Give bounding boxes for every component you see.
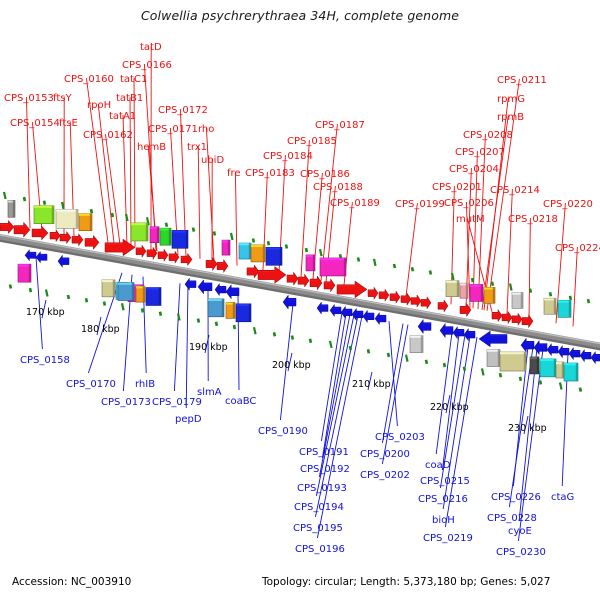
reverse-gene-label[interactable]: CPS_0158 [20, 356, 70, 366]
reverse-gene-arrow[interactable] [558, 346, 569, 358]
reverse-feature-box[interactable] [208, 299, 224, 317]
forward-gene-label[interactable]: tatC1 [120, 75, 147, 85]
forward-gene-label[interactable]: trx1 [187, 143, 207, 153]
reverse-leader-line [389, 321, 397, 426]
reverse-gene-label[interactable]: CPS_0193 [297, 484, 347, 494]
forward-gene-arrow[interactable] [206, 258, 217, 271]
forward-gene-label[interactable]: CPS_0186 [300, 170, 350, 180]
forward-gene-arrow[interactable] [50, 230, 60, 242]
genome-scale-tick [274, 332, 275, 336]
genome-scale-tick [472, 278, 473, 282]
forward-gene-label[interactable]: rpmG [497, 95, 525, 105]
forward-gene-label[interactable]: tatD [140, 43, 162, 53]
genome-scale-tick [86, 298, 87, 302]
genome-scale-tick [142, 308, 143, 312]
genome-scale-tick [358, 257, 359, 261]
forward-gene-arrow[interactable] [0, 221, 14, 234]
forward-leader-line [507, 189, 512, 314]
forward-feature-box-top [172, 230, 188, 232]
forward-feature-box-side [228, 240, 230, 255]
reverse-gene-arrow[interactable] [215, 284, 226, 296]
reverse-gene-arrow[interactable] [591, 352, 600, 364]
reverse-gene-arrow[interactable] [330, 304, 341, 316]
forward-feature-box-side [13, 200, 15, 217]
reverse-gene-label[interactable]: CPS_0191 [299, 448, 349, 458]
forward-feature-box[interactable] [56, 209, 78, 228]
forward-gene-arrow[interactable] [492, 310, 502, 322]
genome-scale-tick [62, 202, 64, 210]
genome-scale-tick [253, 238, 254, 242]
reverse-feature-box-side [29, 264, 31, 282]
forward-feature-box-top [34, 206, 54, 208]
forward-gene-label[interactable]: CPS_0201 [432, 183, 482, 193]
genome-scale-tick [482, 368, 484, 375]
forward-gene-arrow[interactable] [390, 291, 400, 303]
genome-scale-tick [4, 192, 6, 199]
forward-feature-box-side [521, 292, 523, 308]
genome-scale-tick [44, 201, 45, 205]
forward-feature-box-side [280, 247, 282, 265]
reverse-gene-arrow[interactable] [317, 302, 328, 314]
axis-tick-label[interactable]: 180 kbp [81, 325, 120, 335]
genome-scale-tick [122, 303, 124, 310]
genome-scale-tick [374, 259, 376, 266]
genome-scale-tick [292, 336, 293, 340]
forward-gene-label[interactable]: CPS_0214 [490, 186, 540, 196]
reverse-gene-label[interactable]: CPS_0170 [66, 380, 116, 390]
genome-scale-tick [430, 271, 431, 275]
genome-scale-tick [214, 231, 215, 235]
reverse-feature-box-top [500, 352, 526, 354]
reverse-feature-box[interactable] [146, 287, 161, 305]
forward-feature-box-side [554, 298, 556, 314]
reverse-feature-box-side [537, 357, 539, 374]
reverse-feature-box-side [498, 350, 500, 367]
forward-gene-label[interactable]: CPS_0154 [10, 119, 60, 129]
forward-gene-label[interactable]: CPS_0183 [245, 169, 295, 179]
reverse-gene-label[interactable]: CPS_0200 [360, 450, 410, 460]
reverse-gene-arrow[interactable] [36, 252, 47, 263]
forward-gene-label[interactable]: CPS_0199 [395, 200, 445, 210]
forward-gene-arrow[interactable] [298, 274, 309, 287]
genome-scale-tick [254, 327, 256, 334]
reverse-gene-label[interactable]: pepD [175, 415, 202, 425]
genome-scale-tick [588, 299, 589, 303]
reverse-feature-box-side [233, 302, 235, 318]
axis-tick-label[interactable]: 220 kbp [430, 403, 469, 413]
forward-leader-line [235, 172, 237, 266]
reverse-leader-line [186, 285, 188, 408]
forward-leader-line [573, 247, 577, 326]
axis-tick-label[interactable]: 210 kbp [352, 380, 391, 390]
forward-gene-label[interactable]: ubiD [201, 156, 224, 166]
reverse-gene-label[interactable]: slmA [197, 388, 222, 398]
forward-feature-box-side [249, 243, 251, 259]
reverse-feature-box[interactable] [118, 283, 134, 301]
genome-scale-tick [46, 290, 48, 297]
reverse-gene-arrow[interactable] [547, 344, 558, 356]
genome-scale-tick [394, 264, 395, 268]
forward-gene-label[interactable]: CPS_0207 [455, 148, 505, 158]
genome-scale-tick [580, 388, 581, 392]
reverse-feature-box-top [540, 359, 556, 361]
forward-gene-arrow[interactable] [85, 235, 99, 249]
footer-divider [0, 565, 600, 566]
reverse-gene-arrow[interactable] [58, 255, 69, 267]
forward-gene-label[interactable]: CPS_0208 [463, 131, 513, 141]
reverse-gene-label[interactable]: CPS_0194 [294, 503, 344, 513]
forward-gene-arrow[interactable] [32, 226, 48, 240]
genome-scale-tick [330, 341, 332, 348]
reverse-gene-arrow[interactable] [226, 285, 239, 299]
reverse-gene-arrow[interactable] [418, 320, 431, 334]
genome-summary-text: Topology: circular; Length: 5,373,180 bp… [262, 576, 550, 588]
forward-feature-box-side [344, 258, 346, 276]
forward-gene-label[interactable]: tatB1 [116, 94, 143, 104]
reverse-gene-label[interactable]: CPS_0226 [491, 493, 541, 503]
forward-feature-box[interactable] [131, 223, 148, 241]
forward-gene-arrow[interactable] [379, 289, 389, 301]
reverse-gene-arrow[interactable] [375, 313, 386, 325]
status-bar: Accession: NC_003910 Topology: circular;… [0, 570, 600, 600]
reverse-gene-label[interactable]: cyoE [508, 527, 532, 537]
forward-feature-box[interactable] [320, 258, 346, 276]
reverse-gene-arrow[interactable] [479, 331, 507, 347]
reverse-leader-line [436, 333, 452, 455]
forward-gene-arrow[interactable] [136, 245, 146, 257]
forward-gene-label[interactable]: CPS_0224 [555, 244, 600, 254]
reverse-feature-box-side [421, 336, 423, 353]
reverse-feature-box-side [113, 280, 115, 297]
reverse-feature-box[interactable] [540, 359, 556, 377]
forward-leader-line [98, 104, 114, 243]
reverse-gene-arrow[interactable] [363, 310, 374, 322]
forward-feature-box-side [569, 300, 571, 317]
forward-gene-arrow[interactable] [421, 297, 431, 309]
reverse-gene-label[interactable]: CPS_0179 [152, 398, 202, 408]
forward-feature-box-top [320, 258, 346, 260]
genome-scale-tick [510, 283, 512, 290]
forward-feature-box-side [186, 230, 188, 248]
forward-gene-label[interactable]: rho [198, 125, 214, 135]
forward-leader-line [529, 218, 530, 318]
reverse-feature-box[interactable] [500, 352, 526, 371]
forward-gene-label[interactable]: CPS_0166 [122, 61, 172, 71]
reverse-feature-box-side [249, 304, 251, 322]
forward-leader-line [206, 128, 214, 261]
forward-feature-box-side [76, 209, 78, 228]
forward-gene-label[interactable]: rpmB [497, 113, 524, 123]
genome-scale-tick [10, 285, 11, 289]
forward-feature-box-side [493, 287, 495, 303]
forward-gene-label[interactable]: CPS_0184 [263, 152, 313, 162]
reverse-gene-label[interactable]: bioH [432, 516, 455, 526]
forward-gene-label[interactable]: CPS_0153 [4, 94, 54, 104]
forward-gene-label[interactable]: rpoH [87, 101, 111, 111]
reverse-feature-box-side [554, 359, 556, 377]
forward-gene-label[interactable]: CPS_0187 [315, 121, 365, 131]
genome-scale-tick [340, 254, 341, 258]
reverse-gene-arrow[interactable] [534, 341, 547, 355]
forward-feature-box-top [266, 247, 282, 249]
reverse-gene-label[interactable]: CPS_0230 [496, 548, 546, 558]
genome-scale-tick [91, 209, 92, 213]
forward-feature-box-side [52, 206, 54, 224]
reverse-leader-line [36, 257, 42, 349]
axis-tick-label[interactable]: 190 kbp [189, 343, 228, 353]
forward-gene-label[interactable]: ftsE [59, 119, 78, 129]
reverse-feature-box-side [222, 299, 224, 317]
reverse-gene-label[interactable]: CPS_0203 [375, 433, 425, 443]
reverse-gene-label[interactable]: CPS_0173 [101, 398, 151, 408]
forward-feature-box-side [263, 245, 265, 262]
forward-gene-arrow[interactable] [438, 300, 448, 312]
genome-scale-tick [350, 346, 351, 350]
reverse-gene-arrow[interactable] [185, 278, 196, 290]
reverse-feature-box-top [208, 299, 224, 301]
forward-leader-line [198, 146, 200, 259]
forward-gene-arrow[interactable] [287, 272, 298, 285]
forward-gene-label[interactable]: fre [227, 169, 241, 179]
genome-scale-tick [320, 249, 322, 256]
genome-scale-tick [520, 377, 521, 381]
reverse-gene-label[interactable]: CPS_0216 [418, 495, 468, 505]
forward-feature-box-side [146, 223, 148, 241]
genome-scale-tick [112, 213, 113, 217]
reverse-feature-box-side [159, 287, 161, 305]
forward-feature-box-side [90, 214, 92, 231]
reverse-gene-arrow[interactable] [580, 350, 591, 362]
genome-scale-tick [368, 349, 369, 353]
axis-tick-label[interactable]: 200 kbp [272, 361, 311, 371]
genome-scale-tick [550, 292, 551, 296]
reverse-gene-arrow[interactable] [341, 306, 352, 318]
forward-gene-arrow[interactable] [247, 265, 259, 278]
forward-gene-label[interactable]: CPS_0160 [64, 75, 114, 85]
axis-tick-label[interactable]: 170 kbp [26, 308, 65, 318]
forward-gene-label[interactable]: CPS_0188 [313, 183, 363, 193]
forward-gene-label[interactable]: CPS_0220 [543, 200, 593, 210]
reverse-leader-line [322, 313, 346, 458]
genome-scale-tick [30, 288, 31, 292]
forward-gene-arrow[interactable] [368, 287, 378, 299]
reverse-feature-box-side [143, 286, 145, 302]
reverse-feature-box-side [524, 352, 526, 371]
forward-feature-box-side [313, 255, 315, 271]
forward-gene-label[interactable]: ftsY [53, 94, 72, 104]
reverse-feature-box-side [132, 283, 134, 301]
forward-feature-box-top [131, 223, 148, 225]
genome-scale-tick [68, 295, 69, 299]
genome-scale-tick [500, 373, 501, 377]
genome-scale-tick [160, 312, 161, 316]
reverse-gene-label[interactable]: coaD [425, 461, 450, 471]
axis-tick-label[interactable]: 230 kbp [508, 424, 547, 434]
genome-scale-tick [193, 228, 194, 232]
genome-scale-tick [24, 197, 25, 201]
reverse-gene-arrow[interactable] [283, 295, 296, 309]
forward-gene-arrow[interactable] [512, 313, 522, 325]
reverse-gene-label[interactable]: coaBC [225, 397, 256, 407]
genome-scale-tick [216, 322, 217, 326]
forward-gene-label[interactable]: CPS_0185 [287, 137, 337, 147]
reverse-gene-label[interactable]: CPS_0192 [300, 465, 350, 475]
genome-scale-tick [198, 319, 199, 323]
forward-feature-box[interactable] [34, 206, 54, 224]
genome-scale-tick [570, 296, 571, 300]
forward-gene-arrow[interactable] [411, 295, 421, 307]
genome-scale-tick [464, 367, 465, 371]
reverse-feature-box-side [576, 363, 578, 381]
forward-gene-label[interactable]: hemB [137, 143, 166, 153]
genome-scale-tick [388, 353, 389, 357]
genome-scale-tick [452, 273, 454, 280]
forward-gene-label[interactable]: CPS_0218 [508, 215, 558, 225]
reverse-gene-arrow[interactable] [569, 348, 580, 360]
reverse-gene-label[interactable]: CPS_0228 [487, 514, 537, 524]
forward-gene-arrow[interactable] [217, 260, 228, 273]
forward-gene-label[interactable]: CPS_0211 [497, 76, 547, 86]
forward-gene-arrow[interactable] [14, 222, 30, 237]
genome-scale-tick [104, 302, 105, 306]
forward-gene-arrow[interactable] [181, 253, 192, 265]
genome-scale-tick [412, 267, 413, 271]
genome-scale-tick [560, 383, 562, 390]
forward-gene-label[interactable]: CPS_0172 [158, 106, 208, 116]
genome-scale-tick [540, 380, 541, 384]
reverse-feature-box[interactable] [236, 304, 251, 322]
forward-gene-arrow[interactable] [158, 249, 168, 261]
genome-scale-tick [530, 289, 531, 293]
reverse-gene-arrow[interactable] [198, 280, 212, 294]
forward-leader-line [406, 203, 417, 296]
forward-gene-label[interactable]: CPS_0189 [330, 199, 380, 209]
reverse-leader-line [382, 325, 408, 464]
forward-gene-arrow[interactable] [310, 276, 322, 290]
genome-map-viewer[interactable]: Colwellia psychrerythraea 34H, complete … [0, 0, 600, 600]
reverse-gene-label[interactable]: CPS_0196 [295, 545, 345, 555]
genome-scale-tick [310, 339, 311, 343]
genome-scale-tick [231, 233, 233, 240]
forward-gene-label[interactable]: CPS_0204 [449, 165, 499, 175]
genome-scale-tick [406, 355, 408, 362]
forward-feature-box-side [169, 228, 171, 245]
genome-scale-tick [426, 360, 427, 364]
reverse-gene-label[interactable]: CPS_0219 [423, 534, 473, 544]
genome-scale-tick [268, 241, 269, 245]
genome-scale-tick [306, 248, 307, 252]
forward-gene-arrow[interactable] [258, 267, 286, 284]
genome-scale-tick [492, 282, 493, 286]
forward-feature-box[interactable] [266, 247, 282, 265]
genome-scale-tick [126, 214, 128, 221]
forward-gene-arrow[interactable] [460, 304, 471, 317]
forward-gene-arrow[interactable] [522, 315, 533, 328]
genome-scale-tick [234, 325, 235, 329]
forward-gene-label[interactable]: CPS_0162 [83, 131, 133, 141]
forward-gene-label[interactable]: CPS_0171 [148, 125, 198, 135]
reverse-gene-label[interactable]: rhIB [135, 380, 155, 390]
reverse-gene-label[interactable]: CPS_0215 [420, 477, 470, 487]
reverse-feature-box-top [236, 304, 251, 306]
forward-gene-arrow[interactable] [60, 232, 71, 244]
genome-scale-tick [286, 244, 287, 248]
forward-gene-label[interactable]: mutM [456, 215, 485, 225]
forward-gene-label[interactable]: CPS_0206 [444, 199, 494, 209]
reverse-leader-line [174, 283, 180, 391]
reverse-feature-box-top [118, 283, 134, 285]
forward-gene-label[interactable]: tatA1 [109, 112, 136, 122]
forward-feature-box-side [457, 281, 459, 297]
forward-feature-box-side [466, 283, 468, 298]
forward-feature-box-side [157, 227, 159, 243]
accession-text: Accession: NC_003910 [12, 576, 131, 588]
reverse-gene-label[interactable]: ctaG [551, 493, 574, 503]
reverse-gene-label[interactable]: CPS_0202 [360, 471, 410, 481]
forward-feature-box[interactable] [172, 230, 188, 248]
reverse-gene-arrow[interactable] [440, 324, 453, 338]
genome-scale-tick [166, 223, 167, 227]
forward-feature-box-top [56, 209, 78, 211]
reverse-gene-label[interactable]: CPS_0195 [293, 524, 343, 534]
reverse-feature-box-top [146, 287, 161, 289]
forward-gene-arrow[interactable] [337, 281, 367, 298]
genome-scale-tick [444, 363, 445, 367]
genome-scale-tick [178, 313, 180, 320]
reverse-gene-label[interactable]: CPS_0190 [258, 427, 308, 437]
reverse-gene-arrow[interactable] [25, 250, 36, 261]
forward-feature-box-side [481, 284, 483, 301]
forward-leader-line [26, 97, 30, 228]
reverse-feature-box-side [562, 362, 564, 378]
